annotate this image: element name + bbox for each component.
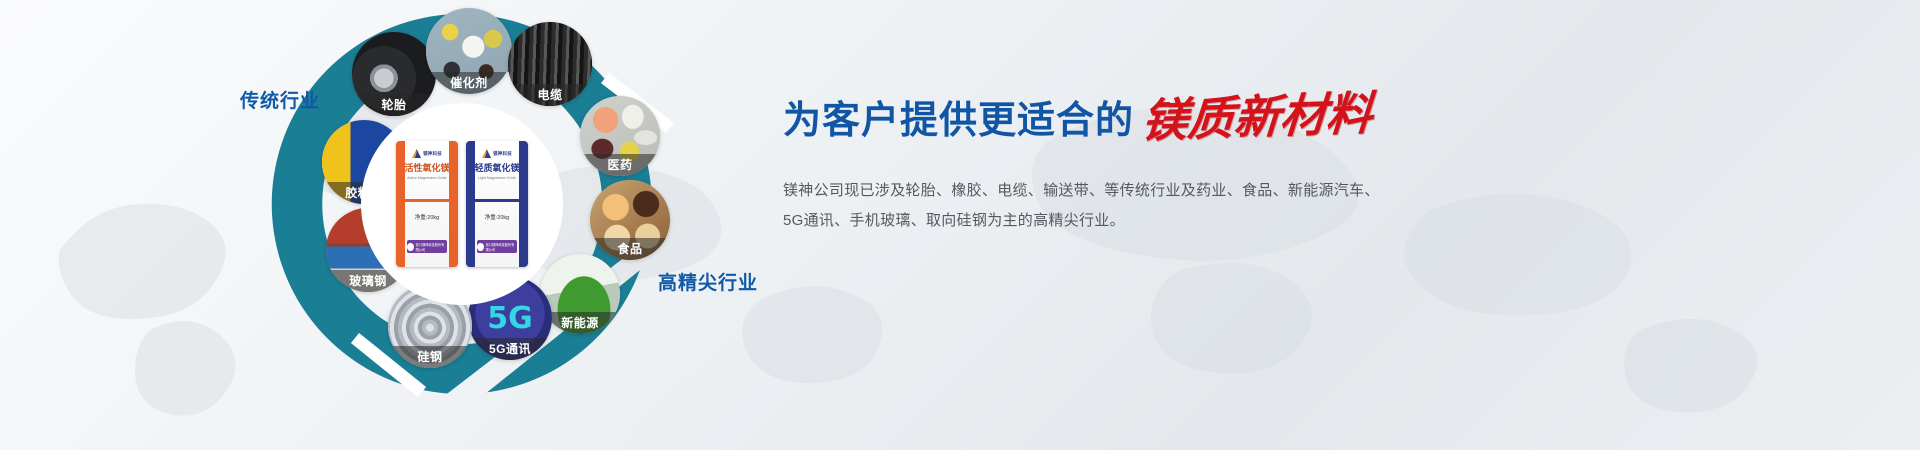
headline-primary: 为客户提供更适合的 [783,102,1134,140]
banner-paragraph: 镁神公司现已涉及轮胎、橡胶、电缆、输送带、等传统行业及药业、食品、新能源汽车、5… [783,176,1383,236]
logo-mark-icon [412,149,421,158]
bag-side-stripe [449,141,458,267]
product-showcase: 镁神科技 活性氧化镁 Active Magnesium Oxide 净重:20k… [364,106,560,302]
net-weight: 净重:20kg [396,213,458,221]
seal-icon [407,243,414,251]
brand-name: 镁神科技 [423,151,442,157]
product-bag-active-mgo[interactable]: 镁神科技 活性氧化镁 Active Magnesium Oxide 净重:20k… [396,141,458,267]
seal-icon [477,243,484,251]
industry-label: 新能源 [540,312,620,334]
industry-circle-food[interactable]: 食品 [590,180,670,260]
label-traditional-industry: 传统行业 [240,86,320,113]
label-advanced-industry: 高精尖行业 [658,268,758,295]
headline-accent: 镁质新材料 [1140,92,1374,144]
headline: 为客户提供更适合的 镁质新材料 [783,96,1483,140]
brand-logo: 镁神科技 [408,147,446,160]
industry-label: 催化剂 [426,72,512,94]
company-name: 营口镁神科技股份有限公司 [416,242,447,252]
bag-footer: 营口镁神科技股份有限公司 [407,240,447,253]
product-subtitle: Light Magnesium Oxide [478,176,516,180]
industry-diagram: 传统行业 高精尖行业 轮胎 催化剂 电缆 医药 食品 新能源 5G 5G通讯 [150,0,790,450]
brand-name: 镁神科技 [493,151,512,157]
bag-band [475,199,519,202]
bag-side-stripe [396,141,405,267]
industry-circle-catalyst[interactable]: 催化剂 [426,8,512,94]
industry-circle-medicine[interactable]: 医药 [580,96,660,176]
industry-circle-new-energy[interactable]: 新能源 [540,254,620,334]
product-subtitle: Active Magnesium Oxide [407,176,447,180]
industry-label: 硅钢 [388,346,472,368]
banner-copy: 为客户提供更适合的 镁质新材料 镁神公司现已涉及轮胎、橡胶、电缆、输送带、等传统… [783,96,1483,236]
company-name: 营口镁神科技股份有限公司 [486,242,517,252]
industry-circle-cable[interactable]: 电缆 [508,22,592,106]
industry-label: 医药 [580,154,660,176]
product-bag-light-mgo[interactable]: 镁神科技 轻质氧化镁 Light Magnesium Oxide 净重:20kg… [466,141,528,267]
industry-label: 5G通讯 [468,338,552,360]
product-title: 活性氧化镁 [404,164,449,174]
bag-footer: 营口镁神科技股份有限公司 [477,240,517,253]
logo-mark-icon [482,149,491,158]
bag-band [405,199,449,202]
industry-circle-tire[interactable]: 轮胎 [352,32,436,116]
product-title: 轻质氧化镁 [474,164,519,174]
brand-logo: 镁神科技 [478,147,516,160]
bag-side-stripe [519,141,528,267]
net-weight: 净重:20kg [466,213,528,221]
bag-side-stripe [466,141,475,267]
